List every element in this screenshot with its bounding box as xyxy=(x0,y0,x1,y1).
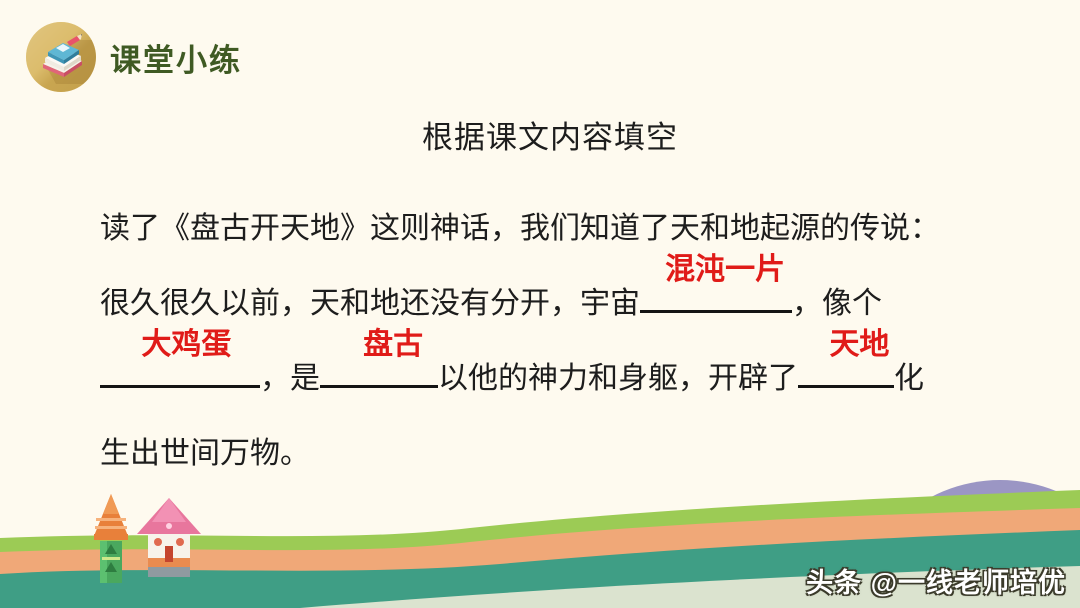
line3-text-c: 化 xyxy=(894,362,924,395)
line3-text-b: 以他的神力和身躯，开辟了 xyxy=(438,362,798,395)
passage-line-1: 读了《盘古开天地》这则神话，我们知道了天和地起源的传说： xyxy=(100,191,1020,266)
answer-text-2: 大鸡蛋 xyxy=(141,307,231,382)
answer-text-1: 混沌一片 xyxy=(665,232,785,307)
line4-text: 生出世间万物。 xyxy=(100,437,310,470)
books-stack-icon xyxy=(26,22,96,92)
passage-text: 读了《盘古开天地》这则神话，我们知道了天和地起源的传说： 很久很久以前，天和地还… xyxy=(0,191,1080,491)
line1-text: 读了《盘古开天地》这则神话，我们知道了天和地起源的传说： xyxy=(100,212,940,245)
header: 课堂小练 xyxy=(26,22,242,92)
answer-text-3: 盘古 xyxy=(363,307,423,382)
answer-blank-3[interactable]: 盘古 xyxy=(320,351,438,388)
answer-text-4: 天地 xyxy=(829,307,889,382)
watermark-text: 头条 @一线老师培优 xyxy=(806,561,1066,600)
exercise-instruction: 根据课文内容填空 xyxy=(20,112,1080,157)
passage-line-3: 大鸡蛋，是盘古以他的神力和身躯，开辟了天地化 xyxy=(100,341,1020,416)
line3-text-a: ，是 xyxy=(260,362,320,395)
page-title: 课堂小练 xyxy=(110,35,242,80)
answer-blank-1[interactable]: 混沌一片 xyxy=(640,276,792,313)
answer-blank-2[interactable]: 大鸡蛋 xyxy=(100,351,260,388)
slide-canvas: 课堂小练 根据课文内容填空 读了《盘古开天地》这则神话，我们知道了天和地起源的传… xyxy=(0,0,1080,608)
answer-blank-4[interactable]: 天地 xyxy=(798,351,894,388)
exercise-content: 根据课文内容填空 读了《盘古开天地》这则神话，我们知道了天和地起源的传说： 很久… xyxy=(0,112,1080,491)
